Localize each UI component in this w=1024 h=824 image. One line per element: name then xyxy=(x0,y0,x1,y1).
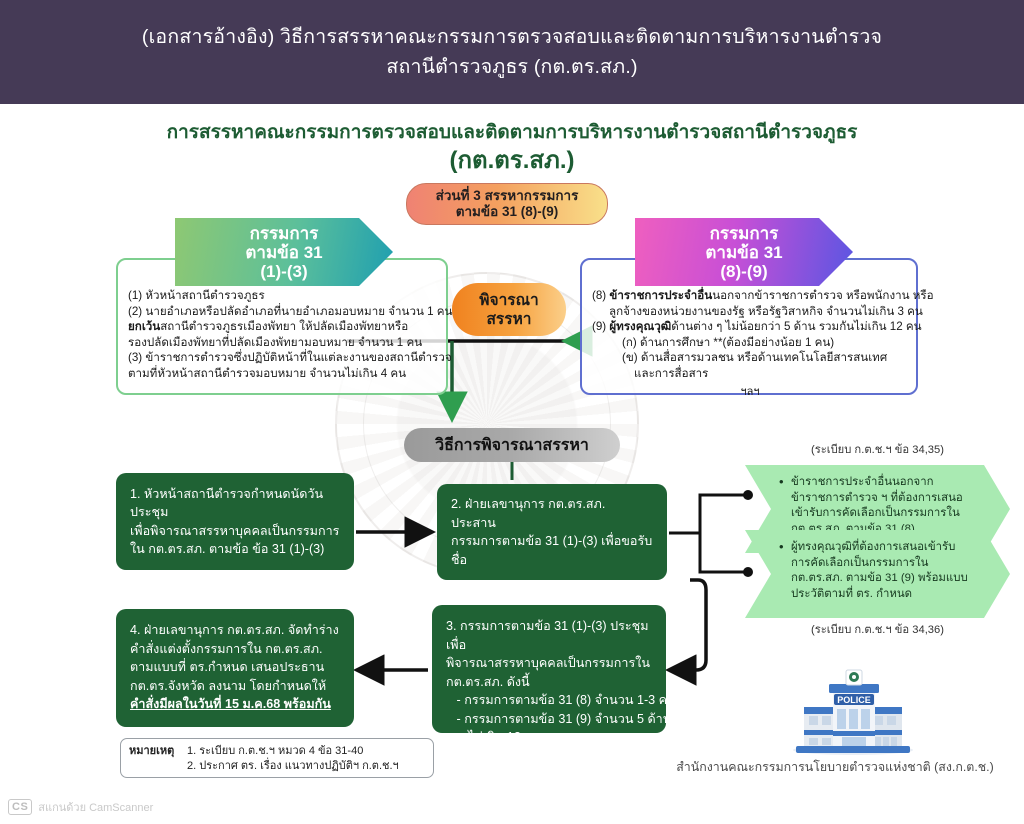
left-line-4: รองปลัดเมืองพัทยาที่ปลัดเมืองพัทยามอบหมา… xyxy=(128,335,438,351)
process-step-1: 1. หัวหน้าสถานีตำรวจกำหนดนัดวันประชุม เพ… xyxy=(116,473,354,570)
step-3-line-2: พิจารณาสรรหาบุคคลเป็นกรรมการใน xyxy=(446,654,652,673)
left-line-3-emphasis: ยกเว้น xyxy=(128,320,160,333)
step-2-text: 2. ฝ่ายเลขานุการ กต.ตร.สภ. ประสาน กรรมกา… xyxy=(451,495,653,569)
left-banner-line-1: กรรมการ xyxy=(250,224,319,243)
step-1-line-1: 1. หัวหน้าสถานีตำรวจกำหนดนัดวันประชุม xyxy=(130,485,340,522)
step-4-line-1: 4. ฝ่ายเลขานุการ กต.ตร.สภ. จัดทำร่าง xyxy=(130,621,340,640)
right-committee-banner: กรรมการ ตามข้อ 31 (8)-(9) xyxy=(635,218,853,286)
right-etc: ฯลฯ xyxy=(592,382,908,401)
infographic-page: (เอกสารอ้างอิง) วิธีการสรรหาคณะกรรมการตร… xyxy=(0,0,1024,824)
note-row-1: หมายเหตุ 1. ระเบียบ ก.ต.ช.ฯ หมวด 4 ข้อ 3… xyxy=(129,744,425,759)
note-row-2: 2. ประกาศ ตร. เรื่อง แนวทางปฏิบัติฯ ก.ต.… xyxy=(129,759,425,774)
left-line-6: ตามที่หัวหน้าสถานีตำรวจมอบหมาย จำนวนไม่เ… xyxy=(128,366,438,382)
note-item-1: 1. ระเบียบ ก.ต.ช.ฯ หมวด 4 ข้อ 31-40 xyxy=(187,744,363,759)
chevron-1-line-1: ข้าราชการประจำอื่นนอกจาก xyxy=(779,475,980,491)
step-3-line-5: - กรรมการตามข้อ 31 (9) จำนวน 5 ด้าน xyxy=(446,710,652,729)
step-4-emphasis: คำสั่งมีผลในวันที่ 15 ม.ค.68 พร้อมกัน xyxy=(130,695,340,714)
left-committee-banner: กรรมการ ตามข้อ 31 (1)-(3) xyxy=(175,218,393,286)
right-line-5: (ข) ด้านสื่อสารมวลชน หรือด้านเทคโนโลยีสา… xyxy=(592,350,908,366)
chevron-2-line-3: กต.ตร.สภ. ตามข้อ 31 (9) พร้อมแบบ xyxy=(779,571,980,587)
chevron-item-2: ผู้ทรงคุณวุฒิที่ต้องการเสนอเข้ารับ การคั… xyxy=(745,530,1010,618)
step-1-line-2: เพื่อพิจารณาสรรหาบุคคลเป็นกรรมการ xyxy=(130,522,340,541)
note-label-spacer xyxy=(129,759,187,774)
left-banner-line-2: ตามข้อ 31 xyxy=(245,243,322,262)
left-line-3: ยกเว้นสถานีตำรวจภูธรเมืองพัทยา ให้ปลัดเม… xyxy=(128,319,438,335)
step-3-line-1: 3. กรรมการตามข้อ 31 (1)-(3) ประชุมเพื่อ xyxy=(446,617,652,654)
note-label: หมายเหตุ xyxy=(129,744,187,759)
step-1-line-3: ใน กต.ตร.สภ. ตามข้อ ข้อ 31 (1)-(3) xyxy=(130,540,340,559)
note-box: หมายเหตุ 1. ระเบียบ ก.ต.ช.ฯ หมวด 4 ข้อ 3… xyxy=(120,738,434,778)
right-line-2: ลูกจ้างของหน่วยงานของรัฐ หรือรัฐวิสาหกิจ… xyxy=(592,304,908,320)
step-1-text: 1. หัวหน้าสถานีตำรวจกำหนดนัดวันประชุม เพ… xyxy=(130,485,340,559)
step-2-line-2: กรรมการตามข้อ 31 (1)-(3) เพื่อขอรับชื่อ xyxy=(451,532,653,569)
right-banner-line-1: กรรมการ xyxy=(710,224,779,243)
left-line-2: (2) นายอำเภอหรือปลัดอำเภอที่นายอำเภอมอบห… xyxy=(128,304,438,320)
right-banner-line-2: ตามข้อ 31 xyxy=(705,243,782,262)
chevron-2-line-2: การคัดเลือกเป็นกรรมการใน xyxy=(779,556,980,572)
right-line-6: และการสื่อสาร xyxy=(592,366,908,382)
right-line-1: (8) ข้าราชการประจำอื่นนอกจากข้าราชการตำร… xyxy=(592,288,908,304)
process-step-2: 2. ฝ่ายเลขานุการ กต.ตร.สภ. ประสาน กรรมกา… xyxy=(437,484,667,580)
left-banner-line-3: (1)-(3) xyxy=(260,262,307,281)
step-3-line-6: รวมไม่เกิน 12 คน xyxy=(446,728,652,747)
step-4-line-3: ตามแบบที่ ตร.กำหนด เสนอประธาน xyxy=(130,658,340,677)
process-step-4: 4. ฝ่ายเลขานุการ กต.ตร.สภ. จัดทำร่าง คำส… xyxy=(116,609,354,727)
note-item-2: 2. ประกาศ ตร. เรื่อง แนวทางปฏิบัติฯ ก.ต.… xyxy=(187,759,399,774)
step-3-line-4: - กรรมการตามข้อ 31 (8) จำนวน 1-3 คน xyxy=(446,691,652,710)
step-4-line-4: กต.ตร.จังหวัด ลงนาม โดยกำหนดให้ xyxy=(130,677,340,696)
right-line-4: (ก) ด้านการศึกษา **(ต้องมีอย่างน้อย 1 คน… xyxy=(592,335,908,351)
right-banner-line-3: (8)-(9) xyxy=(720,262,767,281)
chevron-2-line-1: ผู้ทรงคุณวุฒิที่ต้องการเสนอเข้ารับ xyxy=(779,540,980,556)
right-line-3: (9) ผู้ทรงคุณวุฒิด้านต่าง ๆ ไม่น้อยกว่า … xyxy=(592,319,908,335)
process-step-3: 3. กรรมการตามข้อ 31 (1)-(3) ประชุมเพื่อ … xyxy=(432,605,666,733)
step-4-line-2: คำสั่งแต่งตั้งกรรมการใน กต.ตร.สภ. xyxy=(130,640,340,659)
step-2-line-1: 2. ฝ่ายเลขานุการ กต.ตร.สภ. ประสาน xyxy=(451,495,653,532)
chevron-1-line-2: ข้าราชการตำรวจ ฯ ที่ต้องการเสนอ xyxy=(779,491,980,507)
left-line-3-rest: สถานีตำรวจภูธรเมืองพัทยา ให้ปลัดเมืองพัท… xyxy=(160,320,408,333)
chevron-1-line-3: เข้ารับการคัดเลือกเป็นกรรมการใน xyxy=(779,506,980,522)
left-line-1: (1) หัวหน้าสถานีตำรวจภูธร xyxy=(128,288,438,304)
chevron-2-line-4: ประวัติตามที่ ตร. กำหนด xyxy=(779,587,980,603)
left-line-5: (3) ข้าราชการตำรวจซึ่งปฏิบัติหน้าที่ในแต… xyxy=(128,350,438,366)
step-3-line-3: กต.ตร.สภ. ดังนี้ xyxy=(446,673,652,692)
